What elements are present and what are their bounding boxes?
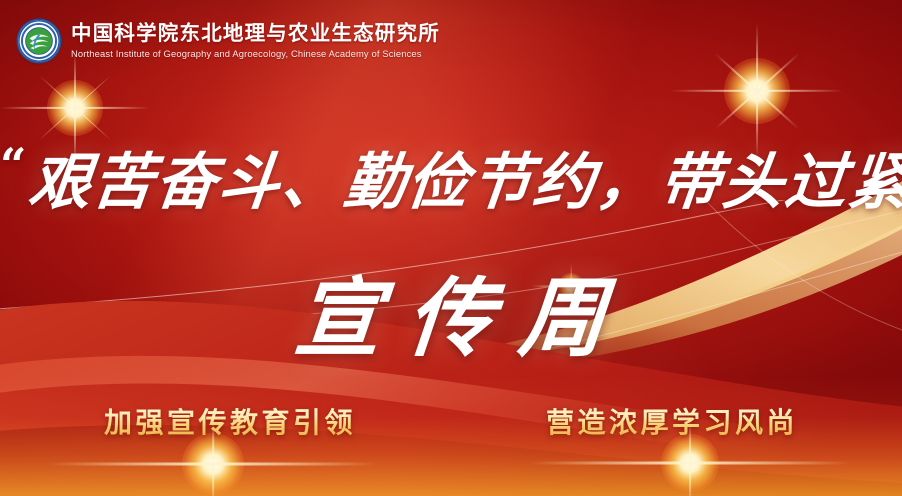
- headline: “艰苦奋斗、勤俭节约，带头过紧日子”: [0, 132, 902, 221]
- headline-text: 艰苦奋斗、勤俭节约，带头过紧日子: [26, 132, 902, 221]
- institute-header: 中国科学院东北地理与农业生态研究所 Northeast Institute of…: [18, 20, 440, 62]
- emblem-ring: [21, 23, 57, 59]
- institute-name-cn: 中国科学院东北地理与农业生态研究所: [71, 24, 440, 45]
- subline: 宣传周: [0, 248, 902, 373]
- quote-open-mark: “: [0, 138, 26, 192]
- slogan-row: 加强宣传教育引领 营造浓厚学习风尚: [0, 398, 902, 444]
- slogan-right: 营造浓厚学习风尚: [546, 401, 798, 441]
- institute-name-en: Northeast Institute of Geography and Agr…: [71, 49, 440, 58]
- subline-text: 宣传周: [265, 248, 638, 373]
- institute-name-block: 中国科学院东北地理与农业生态研究所 Northeast Institute of…: [71, 24, 440, 58]
- slogan-left: 加强宣传教育引领: [104, 401, 356, 441]
- cas-neigae-emblem-icon: [18, 20, 60, 62]
- promotional-banner: 中国科学院东北地理与农业生态研究所 Northeast Institute of…: [0, 0, 902, 496]
